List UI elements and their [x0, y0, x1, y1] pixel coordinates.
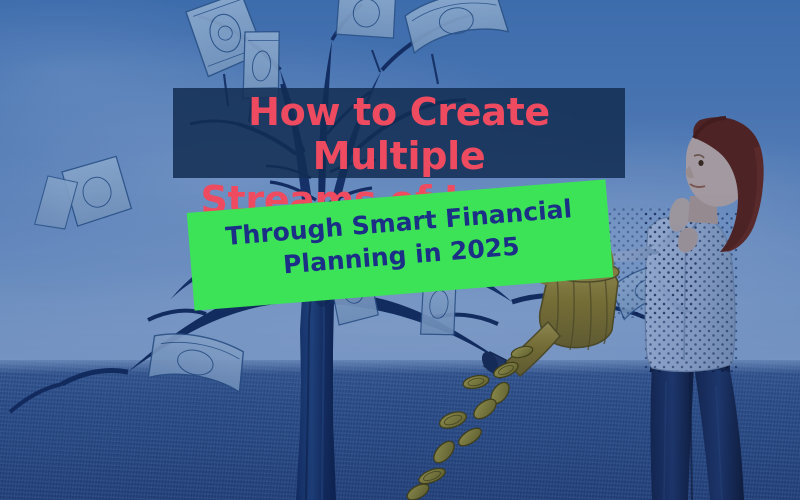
dollar-bill	[144, 325, 250, 399]
dollar-bill	[331, 0, 401, 44]
promo-banner-image: How to Create Multiple Streams of Income…	[0, 0, 800, 500]
dollar-bill	[403, 0, 509, 54]
falling-coin-group	[405, 344, 534, 500]
title-line-1: How to Create Multiple	[248, 90, 550, 178]
